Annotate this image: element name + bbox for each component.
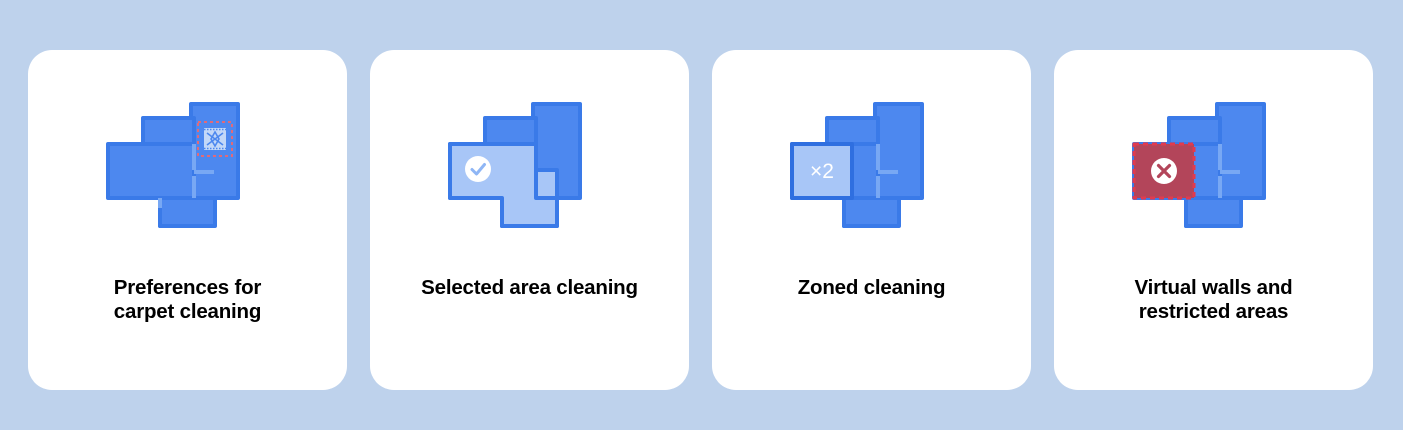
card-title: Zoned cleaning xyxy=(742,276,1002,300)
room-top-right xyxy=(875,104,922,198)
floorplan-with-carpet-illustration xyxy=(98,98,278,238)
zone-repeat-badge[interactable]: ×2 xyxy=(792,144,852,198)
room-lower-right xyxy=(844,198,899,226)
zone-repeat-label: ×2 xyxy=(810,160,834,183)
check-circle-icon[interactable] xyxy=(465,156,491,182)
feature-card-preferences-for-carpet-cleaning[interactable]: Preferences for carpet cleaning xyxy=(28,50,347,390)
room-lower-right xyxy=(160,198,215,226)
card-title: Preferences for carpet cleaning xyxy=(58,276,318,324)
floorplan-with-restricted-zone-illustration xyxy=(1124,98,1304,238)
no-entry-x-circle-icon[interactable] xyxy=(1151,158,1177,184)
card-title: Virtual walls and restricted areas xyxy=(1084,276,1344,324)
room-lower-right xyxy=(1186,198,1241,226)
feature-card-zoned-cleaning[interactable]: ×2 Zoned cleaning xyxy=(712,50,1031,390)
floorplan-with-zone-box-illustration: ×2 xyxy=(782,98,962,238)
feature-card-selected-area-cleaning[interactable]: Selected area cleaning xyxy=(370,50,689,390)
feature-card-virtual-walls-and-restricted-areas[interactable]: Virtual walls and restricted areas xyxy=(1054,50,1373,390)
card-title: Selected area cleaning xyxy=(400,276,660,300)
check-circle-bg xyxy=(465,156,491,182)
feature-card-row: Preferences for carpet cleaning Selected… xyxy=(0,0,1403,430)
restricted-zone[interactable] xyxy=(1134,144,1194,198)
floorplan-with-selected-room-illustration xyxy=(440,98,620,238)
room-top-right xyxy=(1217,104,1264,198)
carpet-rug-icon[interactable] xyxy=(198,122,232,156)
